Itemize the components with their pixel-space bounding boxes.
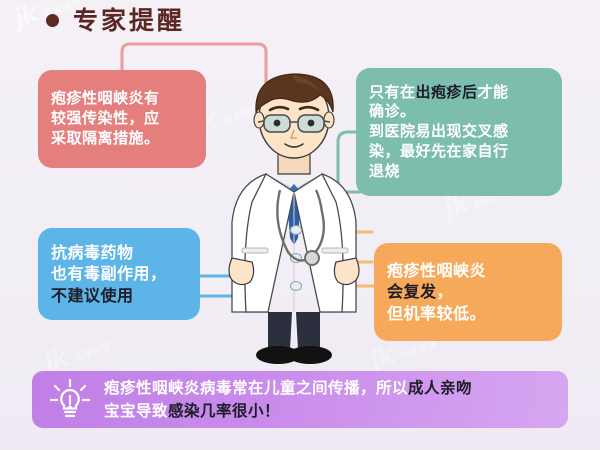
- title-bullet-dot: [46, 14, 59, 27]
- callout-orange-line-1: 疱疹性咽峡炎: [387, 260, 549, 281]
- callout-green-line-1: 只有在出疱疹后才能: [369, 83, 549, 103]
- page-title: 专家提醒: [46, 8, 185, 33]
- callout-green-line-1b-emphasis: 出疱疹后: [416, 83, 478, 101]
- callout-pink-line-3: 采取隔离措施。: [51, 129, 193, 149]
- bottom-tip-line-2: 宝宝导致感染几率很小！: [104, 400, 472, 422]
- callout-pink-line-1: 疱疹性咽峡炎有: [51, 89, 193, 109]
- callout-orange-line-2: 会复发，: [387, 281, 549, 302]
- callout-blue-line-1: 抗病毒药物: [51, 242, 187, 263]
- bottom-tip-banner: 疱疹性咽峡炎病毒常在儿童之间传播，所以成人亲吻 宝宝导致感染几率很小！: [32, 371, 568, 428]
- callout-blue-line-2: 也有毒副作用，: [51, 263, 187, 284]
- bottom-strip: [0, 438, 600, 450]
- callout-orange-line-3: 但机率较低。: [387, 303, 549, 324]
- bottom-tip-line-2a: 宝宝导致: [104, 402, 168, 420]
- bottom-tip-line-1a: 疱疹性咽峡炎病毒常在儿童之间传播，所以: [104, 379, 408, 397]
- callout-pink-transmission: 疱疹性咽峡炎有 较强传染性，应 采取隔离措施。: [38, 70, 206, 168]
- callout-green-line-1c: 才能: [478, 83, 509, 101]
- bottom-tip-text: 疱疹性咽峡炎病毒常在儿童之间传播，所以成人亲吻 宝宝导致感染几率很小！: [104, 377, 472, 422]
- callout-green-line-1a: 只有在: [369, 83, 416, 101]
- callout-blue-antiviral: 抗病毒药物 也有毒副作用， 不建议使用: [38, 228, 200, 320]
- callout-green-line-3: 到医院易出现交叉感: [369, 122, 549, 142]
- bottom-tip-line-2b-emphasis: 感染几率很小！: [168, 402, 280, 420]
- callout-green-line-2: 确诊。: [369, 102, 549, 122]
- callout-green-line-4: 染，最好先在家自行: [369, 142, 549, 162]
- title-text: 专家提醒: [73, 8, 185, 33]
- callout-orange-recurrence: 疱疹性咽峡炎 会复发， 但机率较低。: [374, 243, 562, 341]
- callout-orange-line-2-emphasis: 会复发: [387, 282, 437, 301]
- callout-blue-line-3-emphasis: 不建议使用: [51, 285, 187, 306]
- callout-orange-line-2-comma: ，: [437, 282, 454, 301]
- bottom-tip-line-1b-emphasis: 成人亲吻: [408, 379, 472, 397]
- callout-green-diagnosis: 只有在出疱疹后才能 确诊。 到医院易出现交叉感 染，最好先在家自行 退烧: [356, 68, 562, 196]
- callout-green-line-5: 退烧: [369, 162, 549, 182]
- lightbulb-icon: [48, 378, 92, 422]
- bottom-tip-line-1: 疱疹性咽峡炎病毒常在儿童之间传播，所以成人亲吻: [104, 377, 472, 399]
- callout-pink-line-2: 较强传染性，应: [51, 109, 193, 129]
- infographic-canvas: jk 健康频道 jk 健康频道 jk 健康频道 jk 健康频道 jk 健康频道: [0, 0, 600, 450]
